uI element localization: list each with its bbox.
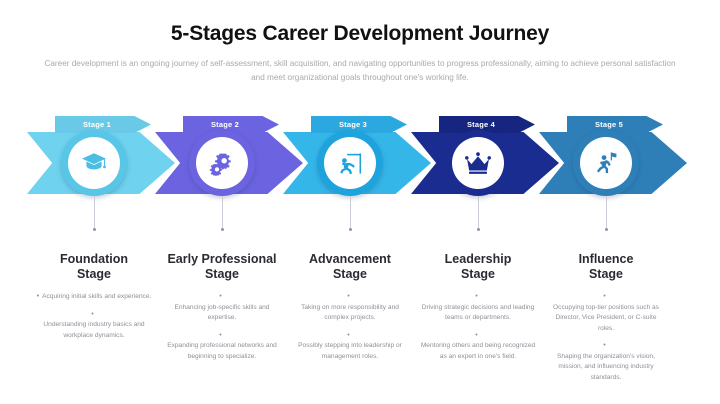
list-item: Mentoring others and being recognized as… [416,331,540,363]
stage-4-ribbon-label: Stage 4 [467,120,495,129]
stage-3-heading-line2: Stage [333,267,367,281]
stage-3-connector-dot [349,228,352,231]
stage-1-arrow[interactable]: Stage 1 [27,108,175,213]
stage-5-badge[interactable] [573,130,639,196]
stage-4-connector [478,196,479,230]
list-item: Enhancing job-specific skills and expert… [160,292,284,324]
stage-1-heading: Foundation Stage [32,252,156,282]
list-item: Shaping the organization's vision, missi… [544,341,668,383]
stage-5-connector [606,196,607,230]
stage-2-connector-dot [221,228,224,231]
stage-1-badge[interactable] [61,130,127,196]
stage-2-bullet-list: Enhancing job-specific skills and expert… [160,292,284,362]
stage-5-connector-dot [605,228,608,231]
stage-4-badge[interactable] [445,130,511,196]
page-subtitle: Career development is an ongoing journey… [42,57,678,85]
stage-5-ribbon-label: Stage 5 [595,120,623,129]
stage-3-connector [350,196,351,230]
stage-1-connector [94,196,95,230]
stage-4-heading: Leadership Stage [416,252,540,282]
stage-4-connector-dot [477,228,480,231]
stage-1-connector-dot [93,228,96,231]
stage-4-bullet-list: Driving strategic decisions and leading … [416,292,540,362]
stage-1-bullet-list: Acquiring initial skills and experience.… [32,292,156,341]
stage-5-bullet-list: Occupying top-tier positions such as Dir… [544,292,668,383]
list-item: Taking on more responsibility and comple… [288,292,412,324]
stage-2-arrow[interactable]: Stage 2 [155,108,303,213]
stage-1-heading-line1: Foundation [60,252,128,266]
stage-2-heading-line2: Stage [205,267,239,281]
stage-2-heading-line1: Early Professional [167,252,276,266]
list-item: Driving strategic decisions and leading … [416,292,540,324]
list-item: Acquiring initial skills and experience. [32,292,156,303]
stage-5-arrow[interactable]: Stage 5 [539,108,689,213]
stage-arrow-band: Stage 1 Stage 2 [0,108,720,213]
stage-3-arrow[interactable]: Stage 3 [283,108,431,213]
page-title: 5-Stages Career Development Journey [0,22,720,46]
stage-4-heading-line1: Leadership [445,252,512,266]
climbing-person-icon [337,150,364,177]
stage-2-badge[interactable] [189,130,255,196]
list-item: Expanding professional networks and begi… [160,331,284,363]
stage-4-description: Leadership Stage Driving strategic decis… [416,252,540,369]
stage-5-description: Influence Stage Occupying top-tier posit… [544,252,668,390]
stage-4-arrow[interactable]: Stage 4 [411,108,559,213]
stage-5-heading-line1: Influence [579,252,634,266]
stage-1-description: Foundation Stage Acquiring initial skill… [32,252,156,348]
gears-icon [209,150,236,177]
stage-3-heading: Advancement Stage [288,252,412,282]
stage-5-heading-line2: Stage [589,267,623,281]
stage-2-ribbon-label: Stage 2 [211,120,239,129]
stage-1-ribbon-label: Stage 1 [83,120,111,129]
stage-3-badge[interactable] [317,130,383,196]
graduation-cap-icon [81,150,107,176]
stage-2-heading: Early Professional Stage [160,252,284,282]
crown-icon [464,149,492,177]
stage-1-heading-line2: Stage [77,267,111,281]
stage-4-heading-line2: Stage [461,267,495,281]
stage-3-bullet-list: Taking on more responsibility and comple… [288,292,412,362]
list-item: Possibly stepping into leadership or man… [288,331,412,363]
stage-2-description: Early Professional Stage Enhancing job-s… [160,252,284,369]
stage-3-heading-line1: Advancement [309,252,391,266]
infographic-slide: 5-Stages Career Development Journey Care… [0,0,720,404]
stage-5-heading: Influence Stage [544,252,668,282]
list-item: Understanding industry basics and workpl… [32,310,156,342]
stage-3-ribbon-label: Stage 3 [339,120,367,129]
running-person-flag-icon [593,150,619,176]
list-item: Occupying top-tier positions such as Dir… [544,292,668,334]
stage-3-description: Advancement Stage Taking on more respons… [288,252,412,369]
stage-2-connector [222,196,223,230]
